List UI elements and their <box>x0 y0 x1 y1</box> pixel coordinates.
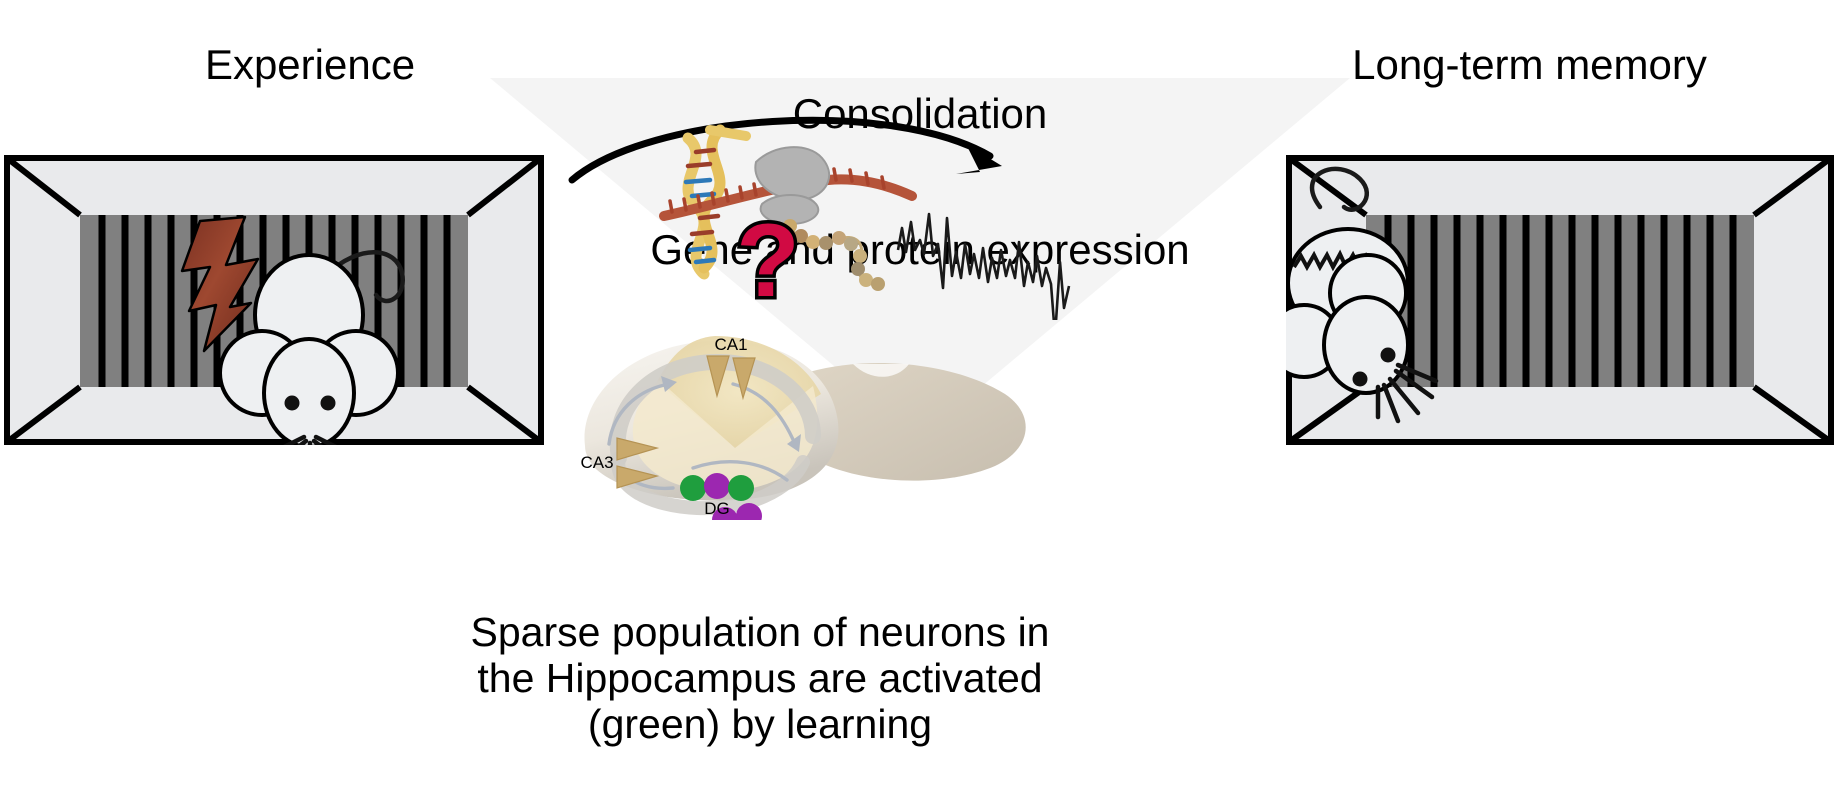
hippocampus-diagram: CA1 CA3 DG <box>565 320 1045 520</box>
fear-conditioning-chamber <box>4 155 544 445</box>
memory-recall-chamber <box>1286 155 1834 445</box>
ca1-label: CA1 <box>714 335 747 354</box>
question-mark-icon: ? <box>736 203 800 319</box>
activated-neuron-green <box>680 475 706 501</box>
activated-neuron-green <box>728 475 754 501</box>
figure-caption: Sparse population of neurons in the Hipp… <box>410 610 1110 748</box>
electrophysiology-trace-icon <box>898 214 1069 320</box>
page-title-long-term-memory: Long-term memory <box>1220 42 1839 87</box>
svg-text:?: ? <box>736 203 800 319</box>
inactive-neuron-purple <box>704 473 730 499</box>
dg-label: DG <box>704 499 730 518</box>
ca3-label: CA3 <box>580 453 613 472</box>
figure-root: Experience Consolidation Gene and protei… <box>0 0 1839 800</box>
molecular-scene: ? <box>560 100 1120 320</box>
